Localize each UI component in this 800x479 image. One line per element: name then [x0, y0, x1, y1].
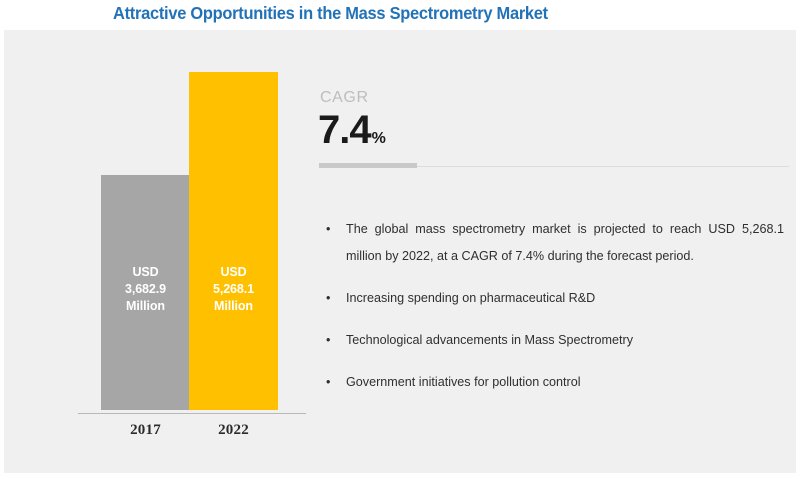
list-item-text: Increasing spending on pharmaceutical R&…	[346, 291, 595, 305]
bar-2017-label-line1: USD	[132, 265, 158, 279]
list-item: • Increasing spending on pharmaceutical …	[314, 285, 796, 312]
bar-2017[interactable]: USD 3,682.9 Million	[101, 175, 190, 410]
x-axis-line	[78, 413, 306, 414]
cagr-percent-sign: %	[372, 130, 386, 148]
bar-2017-label-line3: Million	[126, 299, 165, 313]
list-item-text: Government initiatives for pollution con…	[346, 375, 581, 389]
cagr-value: 7.4 %	[318, 110, 386, 150]
title-bar: Attractive Opportunities in the Mass Spe…	[0, 0, 800, 30]
list-item: • The global mass spectrometry market is…	[314, 216, 796, 270]
bar-2022-label-line1: USD	[220, 265, 246, 279]
bar-chart: USD 3,682.9 Million USD 5,268.1 Million …	[4, 30, 314, 473]
bar-2022[interactable]: USD 5,268.1 Million	[189, 72, 278, 410]
divider-accent	[319, 163, 417, 168]
list-item-text: Technological advancements in Mass Spect…	[346, 333, 633, 347]
list-item: • Government initiatives for pollution c…	[314, 369, 796, 396]
cagr-number: 7.4	[318, 110, 371, 150]
bullet-point-icon: •	[326, 327, 330, 354]
axis-tick-2022: 2022	[189, 422, 278, 439]
highlights-list: • The global mass spectrometry market is…	[314, 216, 796, 396]
axis-tick-2017: 2017	[101, 422, 190, 439]
bar-2022-label: USD 5,268.1 Million	[189, 264, 278, 315]
bullet-point-icon: •	[326, 216, 330, 243]
bar-2022-label-line3: Million	[214, 299, 253, 313]
page-title: Attractive Opportunities in the Mass Spe…	[113, 3, 548, 24]
summary-panel: CAGR 7.4 % • The global mass spectrometr…	[314, 30, 796, 473]
cagr-label: CAGR	[320, 89, 369, 107]
content-panel: USD 3,682.9 Million USD 5,268.1 Million …	[4, 30, 796, 473]
bullet-point-icon: •	[326, 285, 330, 312]
list-item-text: The global mass spectrometry market is p…	[346, 222, 784, 263]
list-item: • Technological advancements in Mass Spe…	[314, 327, 796, 354]
bar-2017-label: USD 3,682.9 Million	[101, 264, 190, 315]
bar-2017-label-line2: 3,682.9	[125, 282, 166, 296]
bar-2022-label-line2: 5,268.1	[213, 282, 254, 296]
bullet-point-icon: •	[326, 369, 330, 396]
